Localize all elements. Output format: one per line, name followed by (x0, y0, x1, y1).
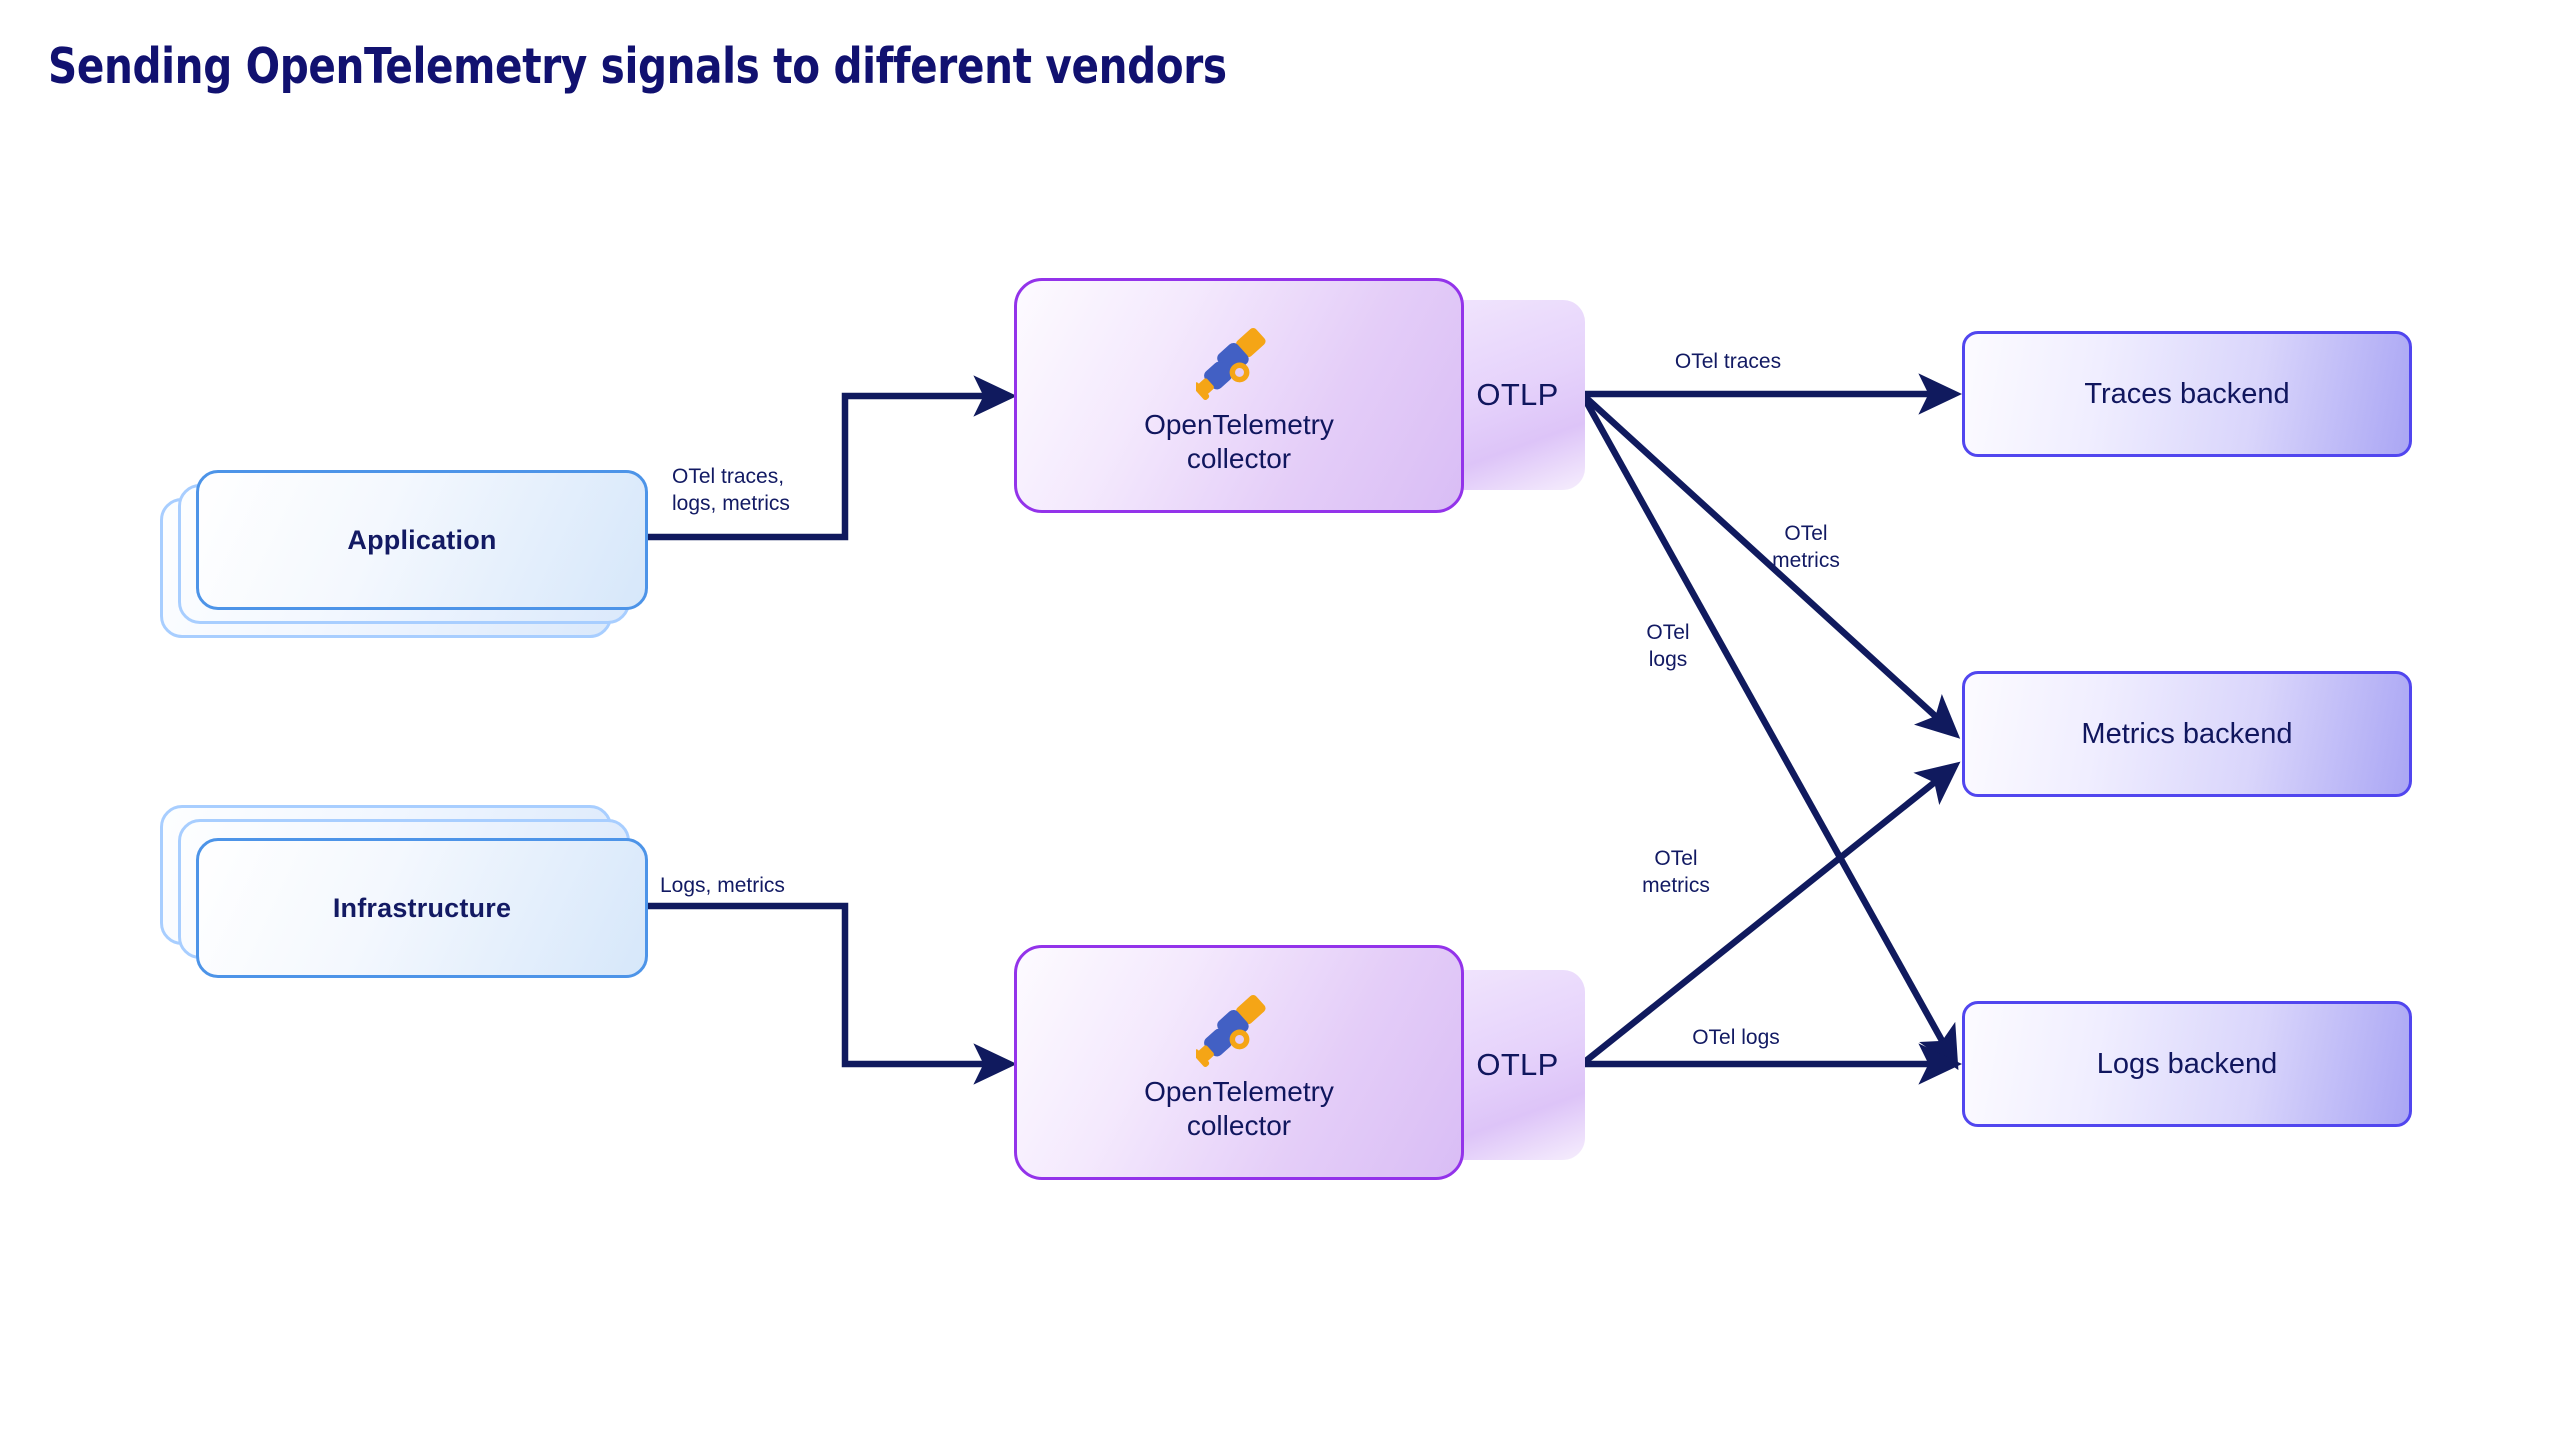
edge-label-app-to-collector: OTel traces, logs, metrics (672, 464, 892, 518)
wire-infra-to-collector (639, 906, 1010, 1064)
source-infrastructure[interactable]: Infrastructure (160, 805, 660, 990)
otlp-port-top[interactable]: OTLP (1450, 300, 1585, 490)
collector-title-line1: OpenTelemetry (1144, 408, 1334, 441)
edge-label-top-traces: OTel traces (1598, 349, 1858, 376)
collector-title-line2: collector (1144, 442, 1334, 475)
collector-title: OpenTelemetry collector (1144, 1075, 1334, 1141)
otlp-label: OTLP (1476, 377, 1558, 413)
telescope-icon (1196, 316, 1282, 402)
collector-title: OpenTelemetry collector (1144, 408, 1334, 474)
edge-label-infra-to-collector: Logs, metrics (660, 873, 900, 900)
backend-label: Logs backend (2097, 1048, 2278, 1081)
edge-label-bottom-logs: OTel logs (1626, 1025, 1846, 1052)
backend-label: Traces backend (2084, 378, 2289, 411)
stack-card-front: Infrastructure (196, 838, 648, 978)
collector-top[interactable]: OpenTelemetry collector (1014, 278, 1464, 513)
otlp-port-bottom[interactable]: OTLP (1450, 970, 1585, 1160)
edge-label-top-logs: OTel logs (1588, 620, 1748, 674)
backend-logs[interactable]: Logs backend (1962, 1001, 2412, 1127)
wire-top-logs (1582, 394, 1955, 1064)
wire-bottom-metrics (1582, 766, 1955, 1064)
telescope-icon (1196, 983, 1282, 1069)
diagram-canvas: Sending OpenTelemetry signals to differe… (0, 0, 2560, 1440)
source-label: Application (347, 525, 496, 556)
stack-card-front: Application (196, 470, 648, 610)
edge-label-bottom-metrics: OTel metrics (1596, 846, 1756, 900)
backend-traces[interactable]: Traces backend (1962, 331, 2412, 457)
collector-title-line2: collector (1144, 1109, 1334, 1142)
collector-bottom[interactable]: OpenTelemetry collector (1014, 945, 1464, 1180)
otlp-label: OTLP (1476, 1047, 1558, 1083)
backend-metrics[interactable]: Metrics backend (1962, 671, 2412, 797)
source-label: Infrastructure (333, 893, 511, 924)
edge-label-top-metrics: OTel metrics (1726, 521, 1886, 575)
backend-label: Metrics backend (2081, 718, 2292, 751)
collector-title-line1: OpenTelemetry (1144, 1075, 1334, 1108)
source-application[interactable]: Application (160, 470, 660, 645)
